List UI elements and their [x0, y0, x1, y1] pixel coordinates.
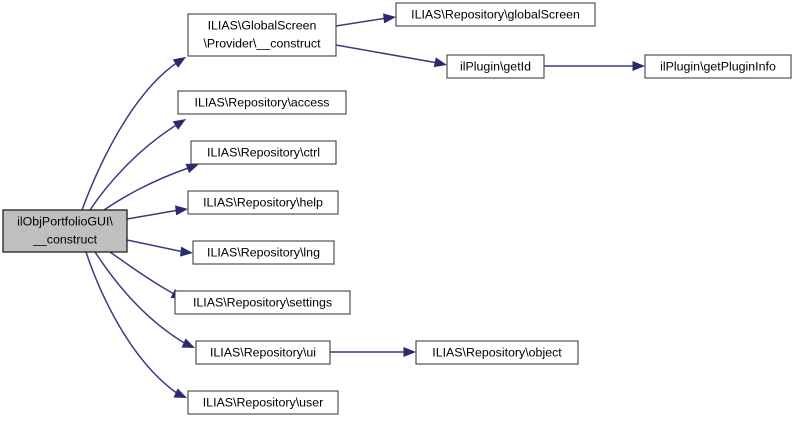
graph-edge	[544, 61, 645, 71]
graph-node-root[interactable]: ilObjPortfolioGUI\__construct	[3, 210, 127, 252]
arrowhead-icon	[180, 247, 193, 257]
node-label: ILIAS\Repository\ui	[210, 345, 316, 359]
node-label-line2: \Provider\__construct	[203, 36, 321, 50]
edge-line	[336, 45, 438, 63]
graph-node-repository_lng[interactable]: ILIAS\Repository\lng	[193, 241, 334, 264]
graph-edge	[82, 57, 186, 210]
graph-edge	[336, 13, 396, 26]
node-label-line1: ILIAS\GlobalScreen	[208, 18, 317, 32]
arrowhead-icon	[173, 57, 186, 68]
node-label: ILIAS\Repository\globalScreen	[411, 7, 580, 21]
edge-line	[86, 252, 178, 394]
node-label: ilPlugin\getPluginInfo	[660, 59, 776, 73]
graph-node-repository_user[interactable]: ILIAS\Repository\user	[188, 391, 338, 414]
node-label: ILIAS\Repository\access	[195, 95, 330, 109]
graph-node-ilplugin_getid[interactable]: ilPlugin\getId	[447, 55, 544, 78]
node-label: ILIAS\Repository\lng	[207, 245, 320, 259]
node-label: ILIAS\Repository\user	[203, 395, 324, 409]
graph-edge	[90, 119, 186, 210]
graph-canvas: ilObjPortfolioGUI\__constructILIAS\Globa…	[0, 0, 796, 425]
arrowhead-icon	[383, 13, 396, 23]
node-label: ilPlugin\getId	[460, 59, 531, 73]
arrowhead-icon	[175, 205, 188, 215]
edge-line	[336, 18, 387, 26]
edge-line	[127, 210, 179, 219]
node-label: ILIAS\Repository\ctrl	[207, 145, 320, 159]
arrowhead-icon	[173, 119, 186, 130]
graph-node-repository_help[interactable]: ILIAS\Repository\help	[188, 191, 338, 214]
graph-node-repository_access[interactable]: ILIAS\Repository\access	[178, 91, 346, 114]
node-label: ILIAS\Repository\object	[432, 345, 562, 359]
graph-edge	[336, 45, 447, 67]
node-label-line1: ilObjPortfolioGUI\	[17, 214, 113, 228]
graph-edge	[127, 205, 188, 219]
graph-node-globalscreen_provider_construct[interactable]: ILIAS\GlobalScreen\Provider\__construct	[188, 14, 336, 56]
node-label-line2: __construct	[32, 232, 98, 246]
arrowhead-icon	[182, 338, 195, 348]
node-label: ILIAS\Repository\settings	[193, 295, 332, 309]
graph-node-repository_ui[interactable]: ILIAS\Repository\ui	[196, 341, 330, 364]
graph-node-repository_object[interactable]: ILIAS\Repository\object	[416, 341, 578, 364]
graph-edge	[110, 252, 184, 299]
graph-edge	[330, 347, 416, 357]
arrowhead-icon	[174, 388, 187, 398]
graph-node-repository_globalscreen[interactable]: ILIAS\Repository\globalScreen	[396, 3, 595, 26]
graph-node-ilplugin_getplugininfo[interactable]: ilPlugin\getPluginInfo	[645, 55, 791, 78]
graph-node-repository_settings[interactable]: ILIAS\Repository\settings	[175, 291, 350, 314]
edge-line	[127, 240, 184, 252]
arrowhead-icon	[186, 164, 199, 173]
node-label: ILIAS\Repository\help	[203, 195, 323, 209]
edge-line	[82, 62, 178, 210]
edge-line	[104, 167, 191, 210]
edge-line	[90, 124, 178, 210]
graph-edge	[86, 252, 187, 398]
arrowhead-icon	[434, 57, 447, 67]
arrowhead-icon	[404, 347, 417, 357]
edge-line	[110, 252, 176, 295]
graph-node-repository_ctrl[interactable]: ILIAS\Repository\ctrl	[191, 141, 336, 164]
edges-layer	[82, 13, 645, 398]
arrowhead-icon	[633, 61, 646, 71]
graph-edge	[104, 164, 199, 210]
call-graph-diagram: ilObjPortfolioGUI\__constructILIAS\Globa…	[0, 0, 796, 425]
graph-edge	[127, 240, 193, 257]
